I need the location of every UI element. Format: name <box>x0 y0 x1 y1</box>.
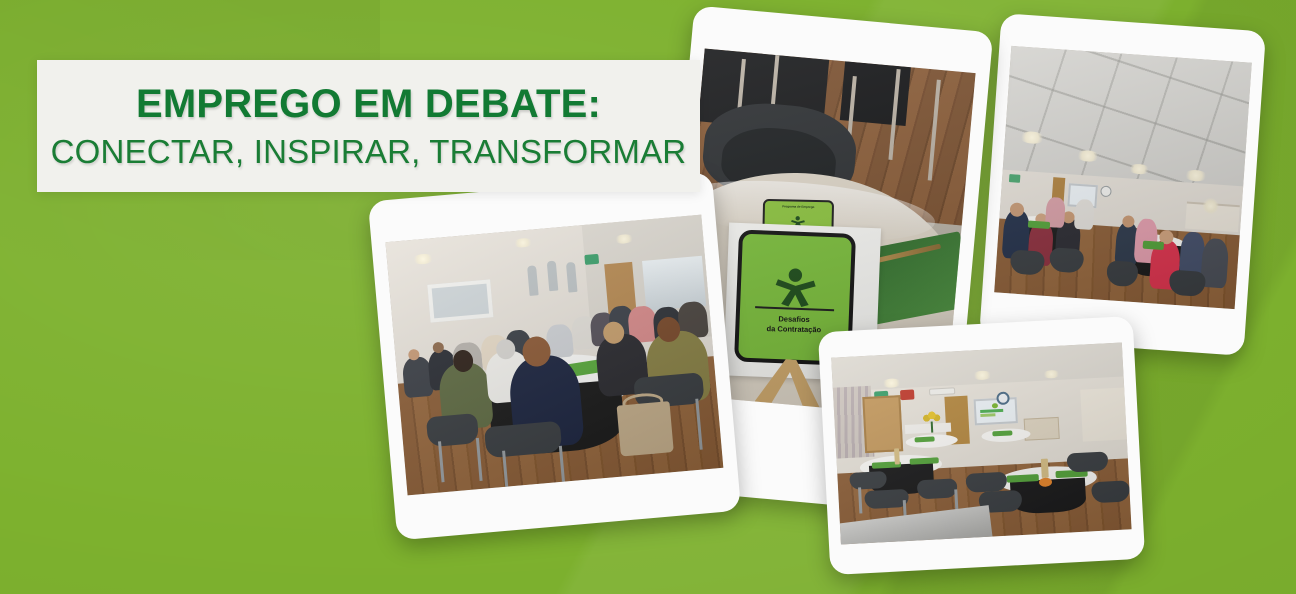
screen-content-bar <box>981 409 1004 413</box>
ceiling-grid <box>1002 46 1251 191</box>
person-head <box>1122 215 1135 228</box>
chair <box>849 471 888 490</box>
photo-card-room-setup <box>818 316 1145 575</box>
chair <box>916 478 958 499</box>
ceiling <box>1002 46 1251 191</box>
event-promo-banner: EMPREGO EM DEBATE: CONECTAR, INSPIRAR, T… <box>0 0 1296 594</box>
badge-text: Programa de Emprego <box>765 204 832 209</box>
side-wall-panel <box>1081 387 1127 442</box>
cabinet <box>1024 417 1060 441</box>
scene-room-setup <box>831 343 1131 545</box>
photo-frame-right <box>994 46 1252 309</box>
photo-card-room-wide <box>979 13 1266 356</box>
double-door <box>862 395 903 453</box>
screen-content-bar <box>981 414 996 417</box>
chair <box>966 472 1008 493</box>
green-napkin <box>1142 241 1164 250</box>
table-candle <box>894 448 900 464</box>
chair <box>1066 452 1108 473</box>
photo-frame-left <box>385 215 723 496</box>
air-conditioner <box>929 387 956 396</box>
photo-card-group-discussion <box>368 172 741 541</box>
person <box>1074 199 1095 230</box>
exit-sign <box>584 254 599 265</box>
wall-mirror <box>427 279 493 322</box>
person-head <box>1009 202 1024 217</box>
scene-group-discussion <box>385 215 723 496</box>
presentation-screen <box>973 397 1018 425</box>
scene-room-wide <box>994 46 1252 309</box>
table-candle <box>1040 459 1048 478</box>
photo-frame-bottom <box>831 343 1131 545</box>
exit-sign <box>1009 175 1021 184</box>
handbag <box>616 401 674 456</box>
screen-logo <box>992 403 998 408</box>
page-title: EMPREGO EM DEBATE: <box>136 83 601 125</box>
people-logo-icon <box>772 267 820 309</box>
title-card: EMPREGO EM DEBATE: CONECTAR, INSPIRAR, T… <box>37 60 700 192</box>
fire-sign <box>900 389 915 400</box>
page-subtitle: CONECTAR, INSPIRAR, TRANSFORMAR <box>51 135 687 170</box>
